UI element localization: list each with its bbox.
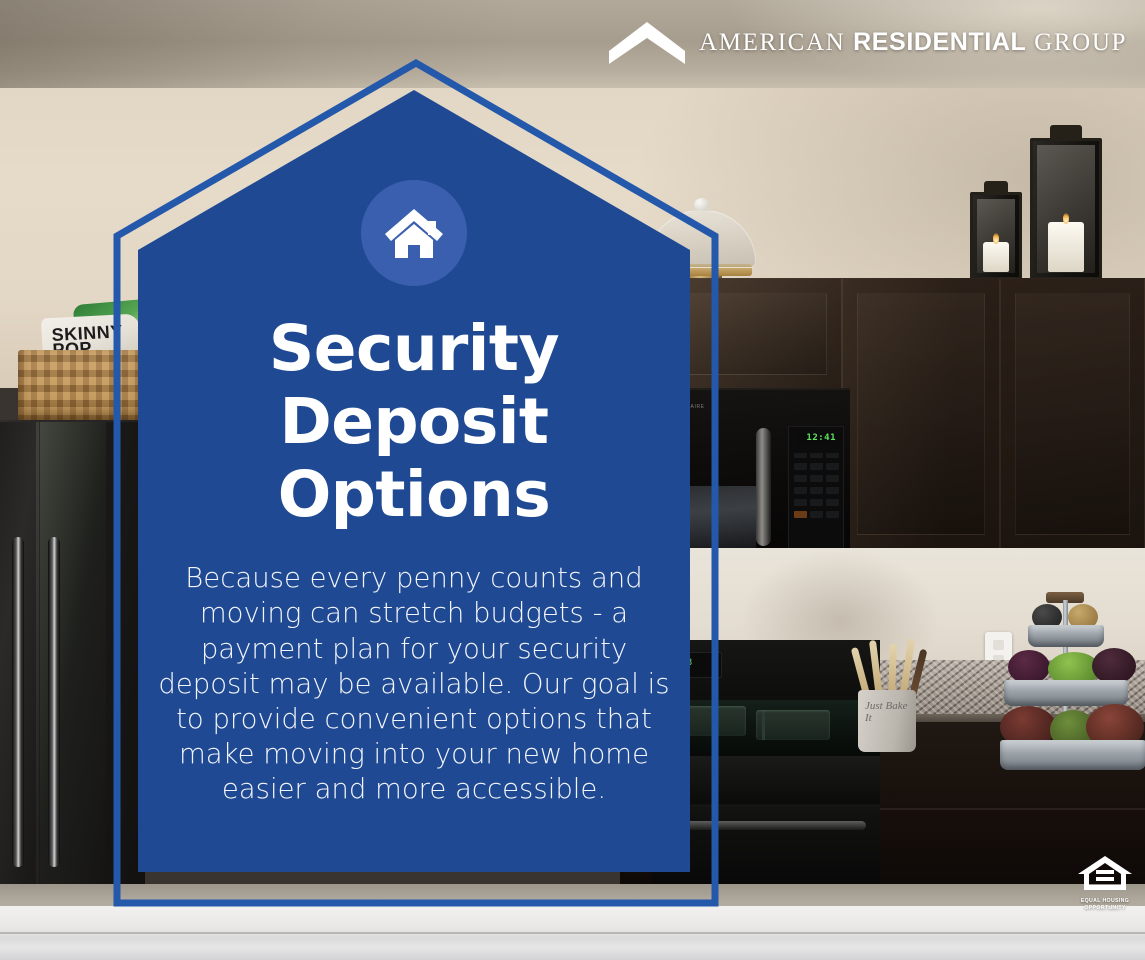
candle-flame (1063, 213, 1069, 224)
candle (1048, 222, 1084, 272)
microwave-control-panel: 12:41 (788, 426, 844, 550)
tray-tier-bottom (1000, 740, 1145, 770)
candle (983, 242, 1009, 272)
eho-line-1: EQUAL HOUSING (1073, 898, 1137, 904)
utensil-crock: Just Bake It (858, 690, 916, 752)
lantern-cap (1050, 125, 1082, 141)
brand-word-american: AMERICAN (699, 29, 845, 56)
produce (1092, 648, 1136, 684)
brand-logo[interactable]: AMERICAN RESIDENTIAL GROUP (609, 20, 1127, 64)
eho-line-2: OPPORTUNITY (1073, 905, 1137, 911)
lantern-large (1030, 138, 1102, 280)
home-icon (383, 205, 445, 261)
chevron-roof-icon (609, 20, 685, 64)
fridge-handle (48, 537, 60, 867)
equal-housing-opportunity-icon (1076, 854, 1134, 892)
home-icon-badge (361, 180, 467, 286)
body-paragraph: Because every penny counts and moving ca… (150, 561, 678, 807)
tray-tier-middle (1004, 680, 1128, 706)
microwave-handle (756, 428, 771, 546)
fridge-handle (12, 537, 24, 867)
promo-graphic: FRIGIDAIRE 12:41 (0, 0, 1145, 960)
brand-wordmark: AMERICAN RESIDENTIAL GROUP (699, 28, 1127, 57)
cabinet-door (1000, 278, 1145, 550)
lantern-cap (984, 181, 1008, 195)
cabinet-door (842, 278, 1000, 550)
lantern-small (970, 192, 1022, 280)
window-sill (0, 906, 1145, 960)
burner-grate (756, 710, 830, 740)
microwave-keypad (794, 453, 840, 523)
tray-tier-top (1028, 625, 1104, 647)
brand-word-group: GROUP (1034, 29, 1127, 56)
equal-housing-logo: EQUAL HOUSING OPPORTUNITY (1073, 854, 1137, 912)
brand-word-residential: RESIDENTIAL (853, 28, 1026, 56)
produce (1008, 650, 1050, 684)
crock-text: Just Bake It (865, 700, 916, 724)
microwave-clock-display: 12:41 (795, 433, 839, 446)
card-content: Security Deposit Options Because every p… (150, 180, 678, 808)
page-title: Security Deposit Options (150, 312, 678, 531)
candle-flame (993, 233, 999, 244)
